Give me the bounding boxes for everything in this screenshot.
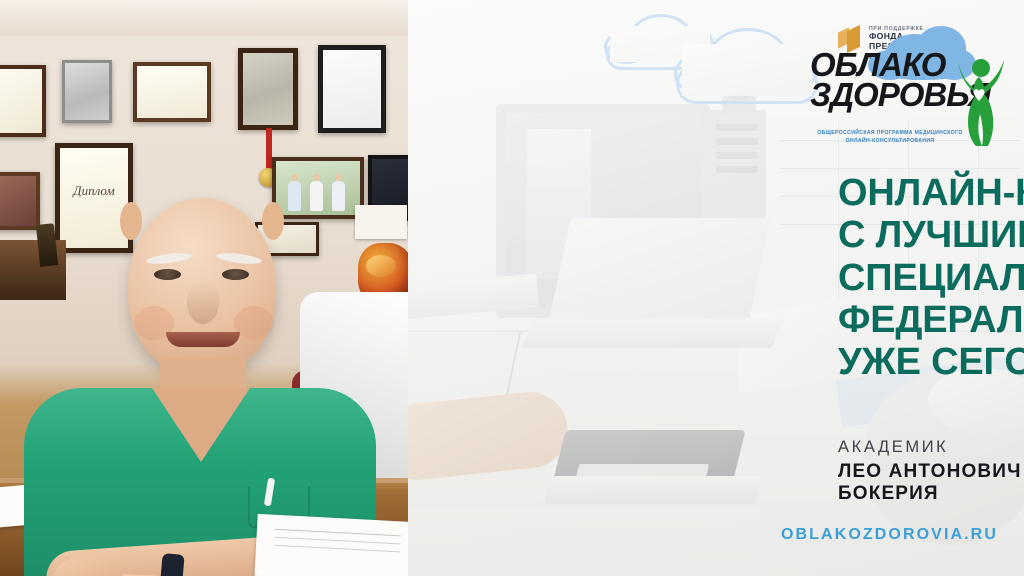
- content-panel: ПРИ ПОДДЕРЖКЕ ФОНДА ПРЕЗИДЕНТСКИХ ГРАНТО…: [408, 0, 1024, 576]
- nose: [187, 282, 219, 324]
- brand-name-line-2: ЗДОРОВЬЯ: [810, 80, 970, 110]
- doctor-figure: [0, 106, 408, 576]
- phone-base: [544, 476, 762, 504]
- brand-wordmark: ОБЛАКО ЗДОРОВЬЯ: [810, 50, 970, 111]
- headline-line-4: ФЕДЕРАЛЬНЫХ ЦЕНТРОВ –: [838, 299, 1024, 341]
- background-laptop-base: [522, 318, 784, 348]
- brand-tagline: ОБЩЕРОССИЙСКАЯ ПРОГРАММА МЕДИЦИНСКОГО ОН…: [814, 130, 966, 145]
- attribution-name: ЛЕО АНТОНОВИЧ БОКЕРИЯ: [838, 461, 1024, 505]
- wall-crown-moulding: [0, 0, 408, 36]
- headline-line-2: С ЛУЧШИМИ: [838, 214, 1024, 256]
- brand-tagline-line-2: ОНЛАЙН-КОНСУЛЬТИРОВАНИЯ: [814, 138, 966, 146]
- headline-line-1: ОНЛАЙН-КОНСУЛЬТАЦИИ: [838, 172, 1024, 214]
- attribution-role: АКАДЕМИК: [838, 438, 1024, 457]
- headline-line-5: УЖЕ СЕГОДНЯ!: [838, 341, 1024, 383]
- promo-banner: Диплом: [0, 0, 1024, 576]
- ear-right: [262, 202, 284, 240]
- brand-tagline-line-1: ОБЩЕРОССИЙСКАЯ ПРОГРАММА МЕДИЦИНСКОГО: [814, 130, 966, 138]
- smile: [166, 332, 240, 347]
- headline: ОНЛАЙН-КОНСУЛЬТАЦИИ С ЛУЧШИМИ СПЕЦИАЛИСТ…: [838, 172, 1024, 384]
- headline-line-3: СПЕЦИАЛИСТАМИ: [838, 257, 1024, 299]
- website-url[interactable]: OBLAKOZDOROVIA.RU: [781, 526, 998, 544]
- cheek-right: [234, 306, 274, 340]
- brand-logo[interactable]: ОБЛАКО ЗДОРОВЬЯ ОБЩЕРОССИЙСКАЯ ПРОГРАММА…: [810, 24, 1010, 166]
- desk-paper-right: [254, 514, 408, 576]
- doctor-photo: Диплом: [0, 0, 408, 576]
- eye-left: [154, 269, 181, 280]
- ear-left: [120, 202, 142, 240]
- eye-right: [222, 269, 249, 280]
- attribution: АКАДЕМИК ЛЕО АНТОНОВИЧ БОКЕРИЯ: [838, 438, 1024, 505]
- background-control-panel: [708, 110, 766, 220]
